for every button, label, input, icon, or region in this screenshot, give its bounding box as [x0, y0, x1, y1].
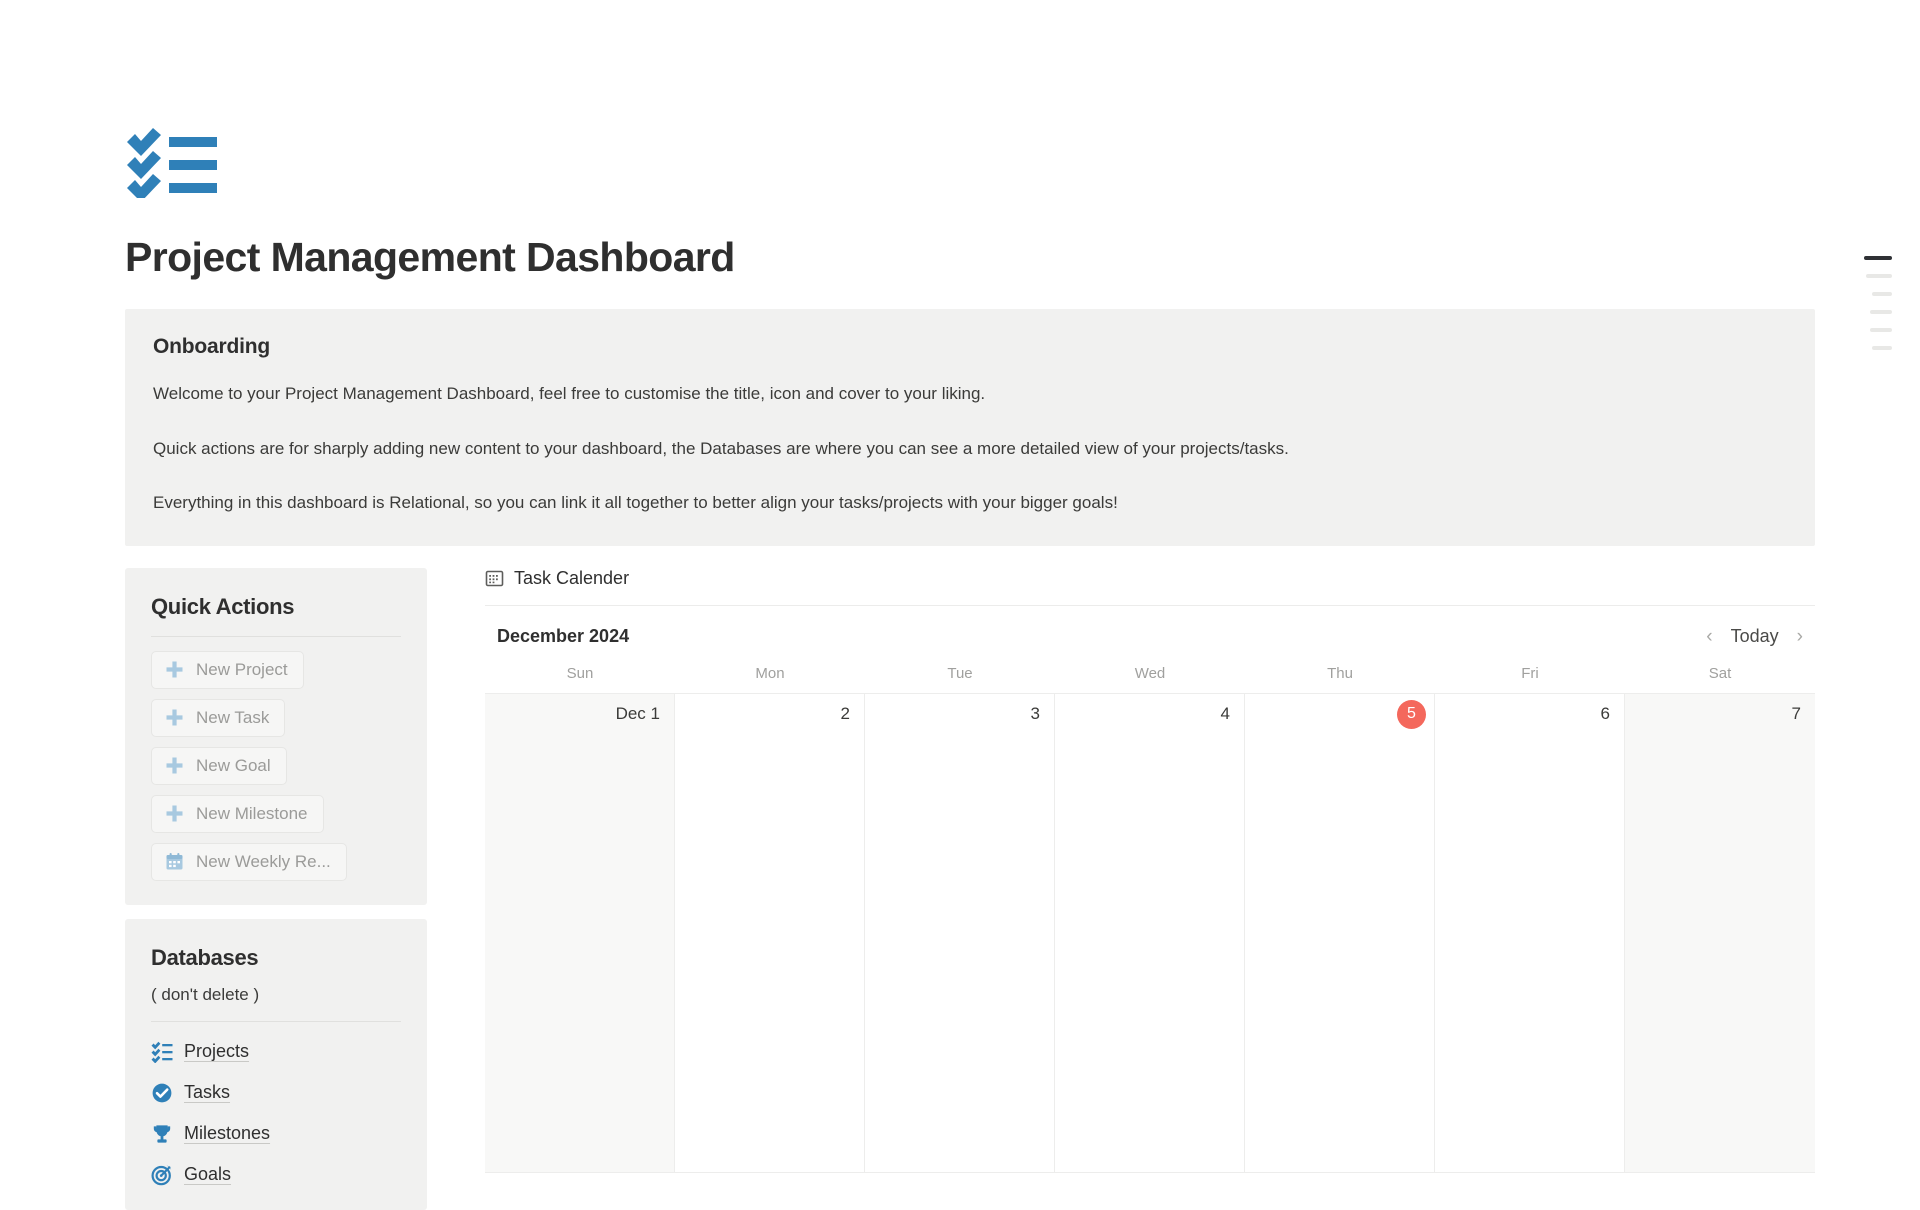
calendar-icon — [485, 569, 504, 588]
plus-icon — [165, 804, 184, 823]
database-label: Goals — [184, 1164, 231, 1185]
day-header-thu: Thu — [1245, 665, 1435, 682]
target-icon — [151, 1164, 173, 1186]
calendar-month-label: December 2024 — [497, 626, 629, 647]
new-milestone-button[interactable]: New Milestone — [151, 795, 324, 833]
plus-icon — [165, 756, 184, 775]
outline-line[interactable] — [1866, 274, 1892, 278]
quick-actions-panel: Quick Actions New Project New Task — [125, 568, 427, 905]
day-header-sat: Sat — [1625, 665, 1815, 682]
divider — [151, 636, 401, 637]
outline-line[interactable] — [1870, 310, 1892, 314]
new-project-button[interactable]: New Project — [151, 651, 304, 689]
outline-line[interactable] — [1870, 328, 1892, 332]
plus-icon — [165, 708, 184, 727]
calendar-day-number: 7 — [1625, 704, 1801, 724]
day-header-mon: Mon — [675, 665, 865, 682]
quick-action-label: New Task — [196, 708, 269, 728]
day-header-fri: Fri — [1435, 665, 1625, 682]
calendar-day-number: 6 — [1435, 704, 1610, 724]
calendar-cell[interactable]: 2 — [675, 694, 865, 1172]
checklist-icon — [125, 128, 219, 198]
outline-line[interactable] — [1864, 256, 1892, 260]
calendar-cell-today[interactable]: 5 — [1245, 694, 1435, 1172]
calendar-navigation: ‹ Today › — [1706, 626, 1803, 647]
divider — [151, 1021, 401, 1022]
left-sidebar: Quick Actions New Project New Task — [125, 568, 427, 1210]
new-weekly-review-button[interactable]: New Weekly Re... — [151, 843, 347, 881]
onboarding-paragraph-1: Welcome to your Project Management Dashb… — [153, 381, 1787, 407]
plus-icon — [165, 660, 184, 679]
check-circle-icon — [151, 1082, 173, 1104]
calendar-cell[interactable]: Dec 1 — [485, 694, 675, 1172]
calendar-grid: Dec 1 2 3 4 5 6 7 — [485, 693, 1815, 1173]
onboarding-paragraph-2: Quick actions are for sharply adding new… — [153, 436, 1787, 462]
checklist-icon — [151, 1041, 173, 1063]
database-link-goals[interactable]: Goals — [151, 1164, 401, 1186]
task-calendar-panel: Task Calender December 2024 ‹ Today › Su… — [485, 568, 1815, 1173]
database-label: Milestones — [184, 1123, 270, 1144]
database-link-projects[interactable]: Projects — [151, 1041, 401, 1063]
calendar-day-number: Dec 1 — [485, 704, 660, 724]
outline-indicator[interactable] — [1864, 256, 1892, 350]
database-link-tasks[interactable]: Tasks — [151, 1082, 401, 1104]
page-title: Project Management Dashboard — [125, 234, 1815, 281]
calendar-day-number-today: 5 — [1397, 700, 1426, 729]
trophy-icon — [151, 1123, 173, 1145]
databases-panel: Databases ( don't delete ) Projects — [125, 919, 427, 1210]
new-task-button[interactable]: New Task — [151, 699, 285, 737]
calendar-header: Task Calender — [485, 568, 1815, 606]
database-label: Projects — [184, 1041, 249, 1062]
quick-action-label: New Weekly Re... — [196, 852, 331, 872]
quick-actions-heading: Quick Actions — [151, 594, 401, 620]
calendar-cell[interactable]: 4 — [1055, 694, 1245, 1172]
today-button[interactable]: Today — [1731, 626, 1779, 647]
onboarding-paragraph-3: Everything in this dashboard is Relation… — [153, 490, 1787, 516]
database-link-milestones[interactable]: Milestones — [151, 1123, 401, 1145]
calendar-day-headers: Sun Mon Tue Wed Thu Fri Sat — [485, 665, 1815, 693]
chevron-left-icon[interactable]: ‹ — [1706, 627, 1712, 646]
outline-line[interactable] — [1872, 292, 1892, 296]
day-header-tue: Tue — [865, 665, 1055, 682]
calendar-day-number: 2 — [675, 704, 850, 724]
calendar-title: Task Calender — [514, 568, 629, 589]
calendar-day-number: 3 — [865, 704, 1040, 724]
onboarding-heading: Onboarding — [153, 335, 1787, 359]
calendar-day-number: 4 — [1055, 704, 1230, 724]
databases-subheading: ( don't delete ) — [151, 985, 401, 1005]
calendar-cell[interactable]: 3 — [865, 694, 1055, 1172]
day-header-sun: Sun — [485, 665, 675, 682]
onboarding-callout: Onboarding Welcome to your Project Manag… — [125, 309, 1815, 546]
calendar-cell[interactable]: 6 — [1435, 694, 1625, 1172]
page-content: Project Management Dashboard Onboarding … — [125, 0, 1815, 1210]
dashboard-columns: Quick Actions New Project New Task — [125, 568, 1815, 1210]
databases-heading: Databases — [151, 945, 401, 971]
outline-line[interactable] — [1872, 346, 1892, 350]
quick-action-label: New Project — [196, 660, 288, 680]
calendar-icon — [165, 852, 184, 871]
quick-action-label: New Goal — [196, 756, 271, 776]
quick-action-label: New Milestone — [196, 804, 308, 824]
new-goal-button[interactable]: New Goal — [151, 747, 287, 785]
calendar-toolbar: December 2024 ‹ Today › — [485, 606, 1815, 665]
database-label: Tasks — [184, 1082, 230, 1103]
day-header-wed: Wed — [1055, 665, 1245, 682]
chevron-right-icon[interactable]: › — [1797, 627, 1803, 646]
calendar-cell[interactable]: 7 — [1625, 694, 1815, 1172]
